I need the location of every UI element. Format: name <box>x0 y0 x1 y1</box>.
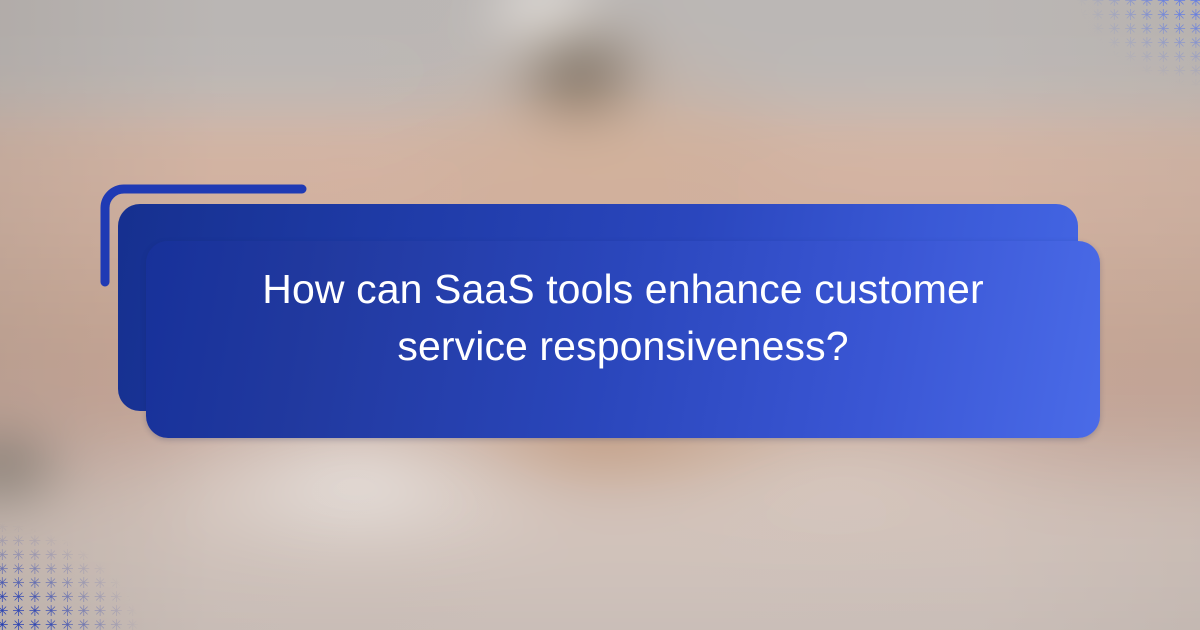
headline-container: How can SaaS tools enhance customer serv… <box>150 218 1096 418</box>
page-title: How can SaaS tools enhance customer serv… <box>243 261 1003 374</box>
social-card-canvas: ✳✳✳✳✳✳✳✳✳✳✳✳✳✳✳✳✳✳✳✳✳✳✳✳✳✳✳✳✳✳✳✳✳✳✳✳✳✳✳✳… <box>0 0 1200 630</box>
